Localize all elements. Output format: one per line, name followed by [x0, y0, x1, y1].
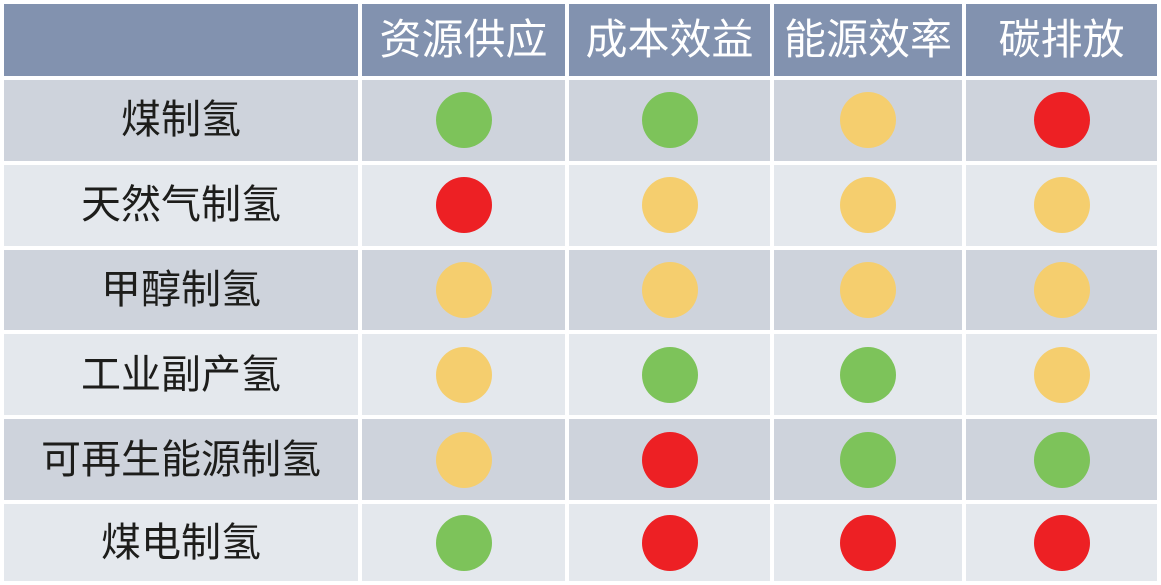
- rating-cell-energy_efficiency: [770, 330, 962, 415]
- rating-cell-resource_supply: [358, 500, 565, 585]
- good-rating-dot: [1034, 432, 1090, 488]
- medium-rating-dot: [436, 262, 492, 318]
- rating-cell-resource_supply: [358, 161, 565, 246]
- rating-cell-cost_benefit: [565, 500, 770, 585]
- rating-cell-resource_supply: [358, 246, 565, 331]
- header-row: 资源供应成本效益能源效率碳排放: [0, 0, 1161, 76]
- medium-rating-dot: [642, 177, 698, 233]
- medium-rating-dot: [840, 262, 896, 318]
- rating-cell-carbon_emission: [962, 415, 1161, 500]
- row-label: 甲醇制氢: [0, 246, 358, 331]
- rating-cell-carbon_emission: [962, 246, 1161, 331]
- good-rating-dot: [436, 515, 492, 571]
- rating-cell-resource_supply: [358, 415, 565, 500]
- row-label: 煤电制氢: [0, 500, 358, 585]
- rating-cell-resource_supply: [358, 76, 565, 161]
- table-corner-cell: [0, 0, 358, 76]
- good-rating-dot: [436, 92, 492, 148]
- hydrogen-production-evaluation-matrix: 资源供应成本效益能源效率碳排放 煤制氢天然气制氢甲醇制氢工业副产氢可再生能源制氢…: [0, 0, 1161, 585]
- medium-rating-dot: [840, 92, 896, 148]
- column-header-carbon_emission: 碳排放: [962, 0, 1161, 76]
- rating-cell-resource_supply: [358, 330, 565, 415]
- row-label: 可再生能源制氢: [0, 415, 358, 500]
- table-row: 可再生能源制氢: [0, 415, 1161, 500]
- table-header: 资源供应成本效益能源效率碳排放: [0, 0, 1161, 76]
- rating-cell-energy_efficiency: [770, 246, 962, 331]
- rating-cell-cost_benefit: [565, 330, 770, 415]
- poor-rating-dot: [642, 515, 698, 571]
- column-header-resource_supply: 资源供应: [358, 0, 565, 76]
- good-rating-dot: [840, 432, 896, 488]
- medium-rating-dot: [1034, 347, 1090, 403]
- rating-cell-carbon_emission: [962, 330, 1161, 415]
- rating-cell-cost_benefit: [565, 161, 770, 246]
- rating-cell-energy_efficiency: [770, 76, 962, 161]
- medium-rating-dot: [436, 432, 492, 488]
- good-rating-dot: [642, 347, 698, 403]
- poor-rating-dot: [1034, 515, 1090, 571]
- medium-rating-dot: [436, 347, 492, 403]
- table-row: 工业副产氢: [0, 330, 1161, 415]
- medium-rating-dot: [840, 177, 896, 233]
- good-rating-dot: [642, 92, 698, 148]
- rating-cell-energy_efficiency: [770, 415, 962, 500]
- rating-cell-carbon_emission: [962, 161, 1161, 246]
- good-rating-dot: [840, 347, 896, 403]
- table-row: 煤制氢: [0, 76, 1161, 161]
- poor-rating-dot: [1034, 92, 1090, 148]
- row-label: 煤制氢: [0, 76, 358, 161]
- table-row: 甲醇制氢: [0, 246, 1161, 331]
- medium-rating-dot: [642, 262, 698, 318]
- rating-cell-carbon_emission: [962, 500, 1161, 585]
- column-header-cost_benefit: 成本效益: [565, 0, 770, 76]
- poor-rating-dot: [436, 177, 492, 233]
- column-header-energy_efficiency: 能源效率: [770, 0, 962, 76]
- medium-rating-dot: [1034, 262, 1090, 318]
- table-row: 煤电制氢: [0, 500, 1161, 585]
- rating-cell-cost_benefit: [565, 76, 770, 161]
- rating-cell-cost_benefit: [565, 415, 770, 500]
- poor-rating-dot: [642, 432, 698, 488]
- medium-rating-dot: [1034, 177, 1090, 233]
- poor-rating-dot: [840, 515, 896, 571]
- row-label: 天然气制氢: [0, 161, 358, 246]
- rating-cell-energy_efficiency: [770, 500, 962, 585]
- rating-cell-cost_benefit: [565, 246, 770, 331]
- table-row: 天然气制氢: [0, 161, 1161, 246]
- table-body: 煤制氢天然气制氢甲醇制氢工业副产氢可再生能源制氢煤电制氢: [0, 76, 1161, 585]
- rating-cell-energy_efficiency: [770, 161, 962, 246]
- row-label: 工业副产氢: [0, 330, 358, 415]
- rating-cell-carbon_emission: [962, 76, 1161, 161]
